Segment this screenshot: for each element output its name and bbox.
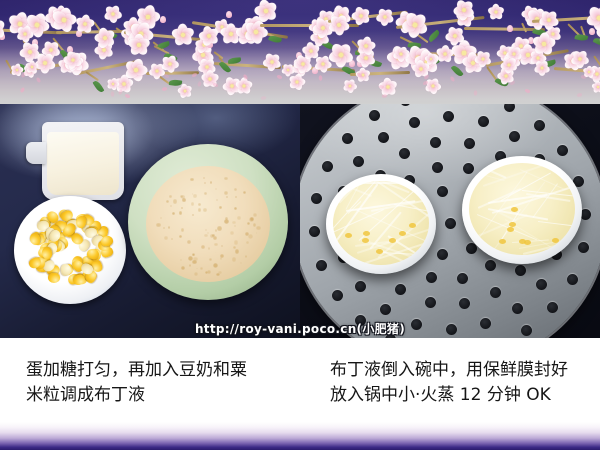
steamer-hole [380, 304, 391, 315]
steamer-hole [445, 218, 456, 229]
egg-foam-bubble [198, 203, 201, 206]
steamer-hole [459, 298, 470, 309]
steamer-hole [478, 116, 489, 127]
steamer-hole [378, 132, 389, 143]
footer-gradient-band [0, 422, 600, 450]
corn-kernel [48, 273, 60, 283]
egg-foam-bubble [240, 262, 243, 265]
egg-foam-bubble [248, 234, 253, 239]
egg-foam-bubble [226, 196, 229, 199]
corn-kernel-heap [23, 205, 117, 295]
egg-foam-bubble [216, 199, 218, 201]
egg-foam-bubble [214, 243, 218, 247]
steamer-hole [557, 145, 568, 156]
egg-foam-bubble [181, 207, 183, 209]
egg-foam-bubble [215, 188, 217, 190]
steamer-hole [509, 131, 520, 142]
egg-foam-bubble [234, 240, 239, 245]
egg-foam-bubble [163, 227, 165, 229]
steamer-hole [400, 104, 411, 106]
steamer-hole [485, 260, 496, 271]
plastic-wrap-crease [333, 209, 384, 234]
steamer-hole [432, 162, 443, 173]
egg-foam-bubble [164, 236, 169, 241]
caption-right-line-2: 放入锅中小·火蒸 12 分钟 OK [330, 383, 596, 408]
plastic-wrap-crease [473, 214, 528, 239]
egg-foam-bubble [224, 219, 229, 224]
corn-kernel-in-pudding [345, 233, 352, 238]
pudding-bowl-left [326, 174, 436, 274]
egg-foam-bubble [220, 254, 224, 258]
falling-petal [450, 76, 454, 81]
egg-foam-bubble [230, 231, 234, 235]
egg-foam-bubble [232, 221, 236, 225]
recipe-step-card: http://roy-vani.poco.cn(小肥猪) 蛋加糖打匀，再加入豆奶… [0, 0, 600, 450]
corn-kernel [72, 274, 86, 286]
egg-foam-bubble [156, 223, 161, 228]
caption-left-line-2: 米粒调成布丁液 [26, 383, 304, 408]
corn-kernel-in-pudding [409, 223, 416, 228]
egg-foam-bubble [191, 202, 194, 205]
caption-right-line-1: 布丁液倒入碗中，用保鲜膜封好 [330, 358, 596, 383]
corn-kernel [60, 264, 71, 277]
egg-foam-bubble [246, 241, 249, 244]
egg-foam-bubble [216, 273, 220, 277]
steamer-hole [309, 226, 320, 237]
plastic-wrap-crease [520, 169, 566, 191]
egg-foam-bubble [234, 225, 236, 227]
egg-foam-bubble [181, 266, 185, 270]
steamer-hole [425, 297, 436, 308]
pudding-liquid-left [333, 181, 429, 265]
egg-foam-bubble [213, 263, 218, 268]
steamer-hole [536, 279, 547, 290]
caption-step-make-pudding-liquid: 蛋加糖打匀，再加入豆奶和粟 米粒调成布丁液 [0, 344, 312, 424]
egg-foam-bubble [256, 232, 258, 234]
egg-foam-bubble [210, 181, 212, 183]
egg-foam-bubble [207, 232, 209, 234]
egg-foam-bubble [160, 217, 162, 219]
plastic-wrap-crease [533, 183, 559, 218]
plastic-wrap-crease [538, 221, 575, 229]
egg-foam-bubble [225, 217, 228, 220]
egg-foam-bubble [253, 213, 257, 217]
egg-foam-bubble [204, 192, 207, 195]
photo-strip [0, 104, 600, 338]
egg-foam-bubble [245, 232, 249, 236]
sakura-flower [453, 0, 475, 21]
steamer-hole [534, 120, 545, 131]
egg-foam-bubble [256, 226, 261, 231]
sakura-bud [160, 16, 166, 23]
egg-foam-bubble [192, 253, 195, 256]
soy-milk-liquid [47, 132, 119, 195]
egg-foam-bubble [182, 198, 186, 202]
steamer-hole [409, 117, 420, 128]
egg-foam-bubble [232, 257, 237, 262]
steamer-hole [332, 290, 343, 301]
corn-kernel-in-pudding [552, 238, 559, 243]
corn-kernel-in-pudding [507, 227, 514, 232]
steamer-hole [443, 111, 454, 122]
egg-foam-bubble [192, 214, 195, 217]
steamer-hole [567, 274, 578, 285]
steamer-hole [311, 193, 322, 204]
plastic-wrap-crease [357, 264, 394, 265]
steamer-hole [515, 265, 526, 276]
steamer-hole [457, 273, 468, 284]
egg-foam-bubble [189, 264, 191, 266]
steamer-hole [399, 148, 410, 159]
egg-foam-bubble [170, 205, 172, 207]
egg-foam-bubble [233, 246, 236, 249]
steamer-hole [437, 186, 448, 197]
steamer-hole [316, 260, 327, 271]
egg-foam-bubble [180, 259, 182, 261]
sakura-bud [507, 25, 513, 32]
sakura-flower [177, 83, 193, 99]
egg-foam-bubble [219, 206, 221, 208]
egg-foam-bubble [204, 182, 206, 184]
caption-left-line-1: 蛋加糖打匀，再加入豆奶和粟 [26, 358, 304, 383]
beaten-egg-liquid [146, 166, 270, 282]
measuring-cup-handle [26, 142, 46, 164]
egg-foam-bubble [245, 255, 247, 257]
measuring-cup-soy-milk [42, 122, 124, 200]
egg-foam-bubble [168, 226, 171, 229]
corn-kernel-in-pudding [511, 207, 518, 212]
egg-foam-bubble [203, 208, 207, 212]
egg-foam-bubble [187, 240, 191, 244]
steamer-hole [504, 104, 515, 112]
egg-foam-bubble [209, 258, 212, 261]
falling-petal [243, 74, 247, 79]
steamer-hole [547, 302, 558, 313]
egg-foam-bubble [171, 238, 173, 240]
photo-steamer [300, 104, 600, 338]
green-bowl-egg-mixture [128, 144, 288, 300]
corn-kernel-in-pudding [389, 238, 396, 243]
egg-foam-bubble [249, 217, 254, 222]
pudding-liquid-right [469, 163, 575, 255]
egg-foam-bubble [196, 268, 198, 270]
egg-foam-bubble [215, 252, 217, 254]
steamer-hole [355, 281, 366, 292]
photo-ingredients [0, 104, 300, 338]
egg-foam-bubble [235, 196, 237, 198]
egg-foam-bubble [208, 247, 211, 250]
corn-kernel-in-pudding [399, 231, 406, 236]
egg-foam-bubble [205, 229, 207, 231]
corn-kernel-in-pudding [499, 239, 506, 244]
steamer-hole [395, 284, 406, 295]
egg-foam-bubble [166, 200, 169, 203]
egg-foam-bubble [237, 216, 241, 220]
egg-foam-bubble [179, 235, 182, 238]
steamer-hole [369, 110, 380, 121]
egg-foam-bubble [203, 177, 205, 179]
sakura-flower [16, 25, 33, 42]
egg-foam-bubble [243, 191, 246, 194]
egg-foam-bubble [205, 271, 208, 274]
egg-foam-bubble [224, 191, 228, 195]
egg-foam-bubble [179, 211, 182, 214]
watermark-url: http://roy-vani.poco.cn(小肥猪) [0, 320, 600, 337]
steamer-hole [578, 242, 589, 253]
corn-kernel-in-pudding [519, 239, 526, 244]
caption-row: 蛋加糖打匀，再加入豆奶和粟 米粒调成布丁液 布丁液倒入碗中，用保鲜膜封好 放入锅… [0, 344, 600, 424]
corn-kernel-in-pudding [362, 238, 369, 243]
egg-foam-bubble [217, 226, 221, 230]
egg-foam-bubble [169, 195, 171, 197]
steamer-hole [512, 303, 523, 314]
steamer-hole [322, 161, 333, 172]
egg-foam-bubble [190, 178, 194, 182]
egg-foam-bubble [221, 245, 223, 247]
egg-foam-bubble [234, 188, 237, 191]
steamer-hole [430, 137, 441, 148]
corn-kernel-in-pudding [376, 249, 383, 254]
egg-foam-bubble [234, 207, 237, 210]
egg-foam-bubble [201, 245, 205, 249]
egg-foam-bubble [194, 272, 198, 276]
pudding-bowl-right [462, 156, 582, 264]
egg-foam-bubble [173, 199, 178, 204]
steamer-hole [426, 272, 437, 283]
egg-foam-bubble [247, 222, 250, 225]
sakura-flower [129, 35, 149, 55]
sakura-flower [540, 11, 559, 30]
egg-foam-bubble [224, 177, 227, 180]
steamer-hole [464, 138, 475, 149]
corn-kernel-in-pudding [363, 231, 370, 236]
egg-foam-bubble [172, 212, 175, 215]
plastic-wrap-crease [360, 182, 429, 184]
sakura-cherry-blossom-banner [0, 0, 600, 104]
steamer-hole [342, 133, 353, 144]
steamer-hole [353, 156, 364, 167]
steamer-hole [437, 249, 448, 260]
egg-foam-bubble [235, 249, 240, 254]
steamer-hole [490, 287, 501, 298]
egg-foam-bubble [181, 228, 185, 232]
plate-of-corn-kernels [14, 196, 126, 304]
egg-foam-bubble [204, 234, 208, 238]
egg-foam-bubble [192, 260, 197, 265]
falling-petal [36, 77, 40, 82]
egg-foam-bubble [193, 194, 196, 197]
egg-foam-bubble [198, 208, 202, 212]
caption-step-steam-pudding: 布丁液倒入碗中，用保鲜膜封好 放入锅中小·火蒸 12 分钟 OK [312, 344, 600, 424]
sakura-bud [226, 11, 232, 18]
egg-foam-bubble [200, 267, 203, 270]
